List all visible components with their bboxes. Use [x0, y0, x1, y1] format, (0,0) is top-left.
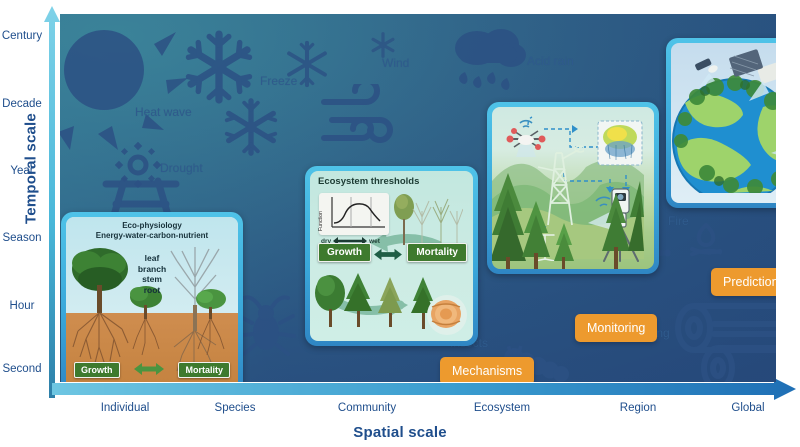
part-root: root — [138, 285, 166, 296]
x-tick-individual: Individual — [70, 402, 180, 414]
sun-icon — [60, 22, 188, 152]
bg-label-wind: Wind — [382, 56, 409, 70]
bg-label-heat-wave: Heat wave — [135, 105, 192, 119]
thresholds-title: Ecosystem thresholds — [318, 176, 419, 187]
mortality-button[interactable]: Mortality — [178, 362, 230, 378]
x-tick-species: Species — [180, 402, 290, 414]
ecophysiology-panel[interactable]: Eco-physiology Energy-water-carbon-nutri… — [61, 212, 243, 382]
y-tick-second: Second — [0, 363, 44, 375]
part-stem: stem — [138, 274, 166, 285]
bg-label-fire: Fire — [668, 214, 689, 228]
y-tick-hour: Hour — [0, 300, 44, 312]
bg-label-acid-rain: Acid rain — [527, 54, 574, 68]
ecophysiology-title-line1: Eco-physiology — [66, 221, 238, 231]
y-axis-arrow — [44, 6, 60, 398]
ecophysiology-title-line2: Energy-water-carbon-nutrient — [66, 231, 238, 241]
predictions-callout[interactable]: Predictions — [711, 268, 776, 296]
mortality-button[interactable]: Mortality — [407, 243, 467, 262]
x-tick-ecosystem: Ecosystem — [447, 402, 557, 414]
function-response-chart: Function — [319, 193, 389, 235]
y-tick-year: Year — [0, 165, 44, 177]
growth-mortality-double-arrow — [134, 362, 164, 376]
global-satellite-panel[interactable] — [666, 38, 776, 208]
snowflake-icon — [180, 28, 258, 106]
mixed-stand-top-illustration — [393, 191, 463, 247]
mechanisms-callout[interactable]: Mechanisms — [440, 357, 534, 382]
figure-root: Temporal scale Century Decade Year Seaso… — [0, 0, 800, 447]
part-leaf: leaf — [138, 253, 166, 264]
growth-button[interactable]: Growth — [318, 243, 371, 262]
campfire-icon — [688, 222, 724, 260]
x-tick-global: Global — [700, 402, 796, 414]
rain-cloud-icon — [449, 22, 529, 100]
tree-part-labels: leaf branch stem root — [138, 253, 166, 295]
bg-label-drought: Drought — [160, 161, 203, 175]
monitoring-callout[interactable]: Monitoring — [575, 314, 657, 342]
foreground-conifers-illustration — [492, 167, 644, 269]
bg-label-freeze: Freeze — [260, 74, 297, 88]
ecophysiology-title: Eco-physiology Energy-water-carbon-nutri… — [66, 221, 238, 241]
wind-icon — [318, 84, 400, 156]
forest-stand-bottom-illustration — [314, 271, 410, 329]
growth-mortality-double-arrow — [374, 248, 402, 261]
growth-button[interactable]: Growth — [74, 362, 120, 378]
y-tick-decade: Decade — [0, 98, 44, 110]
globe-satellites-illustration — [671, 43, 776, 193]
small-shrub-illustration — [194, 287, 228, 361]
x-tick-community: Community — [312, 402, 422, 414]
ecosystem-thresholds-panel[interactable]: Ecosystem thresholds Function — [305, 166, 478, 346]
part-branch: branch — [138, 264, 166, 275]
y-tick-season: Season — [0, 232, 44, 244]
y-tick-century: Century — [0, 30, 44, 42]
function-axis-label: Function — [318, 211, 324, 231]
ecosystem-monitoring-panel[interactable] — [487, 102, 659, 274]
x-axis-title: Spatial scale — [260, 424, 540, 441]
logs-icon — [660, 294, 776, 382]
tree-ring-disc-illustration — [423, 293, 469, 335]
snowflake-icon — [220, 96, 282, 158]
plot-area: Heat wave — [60, 14, 776, 382]
healthy-tree-illustration — [70, 243, 132, 375]
insect-icon — [235, 292, 297, 356]
x-tick-region: Region — [588, 402, 688, 414]
